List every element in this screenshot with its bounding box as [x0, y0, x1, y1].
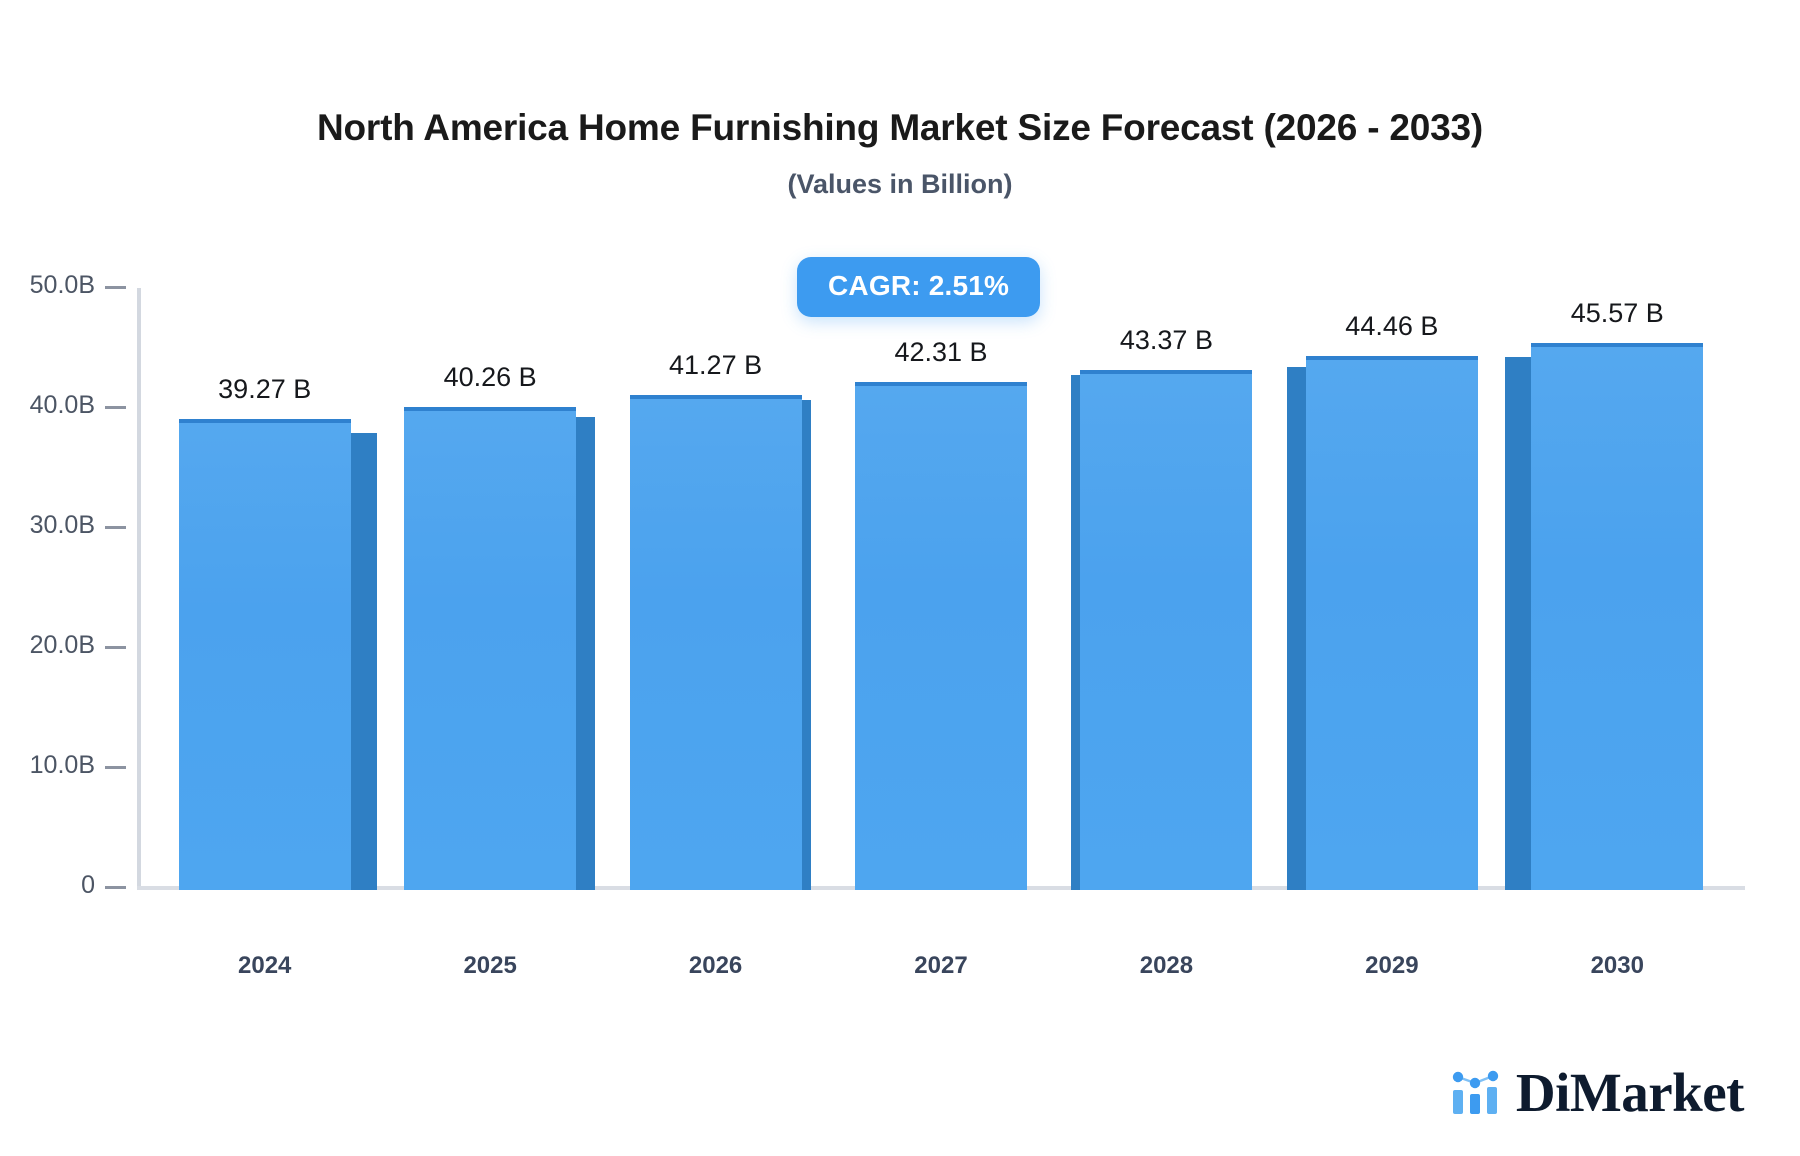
bar-side-face [351, 433, 377, 890]
y-axis-line [137, 288, 141, 890]
bar-group: 40.26 B2025 [404, 0, 576, 1156]
bar-value-label: 43.37 B [1120, 325, 1213, 356]
y-axis-tick-label: 40.0B [30, 391, 95, 420]
y-axis-tick-mark [105, 526, 126, 529]
bar-value-label: 41.27 B [669, 350, 762, 381]
x-axis-label: 2025 [463, 952, 516, 980]
bar-front-face [1531, 343, 1703, 890]
x-axis-label: 2030 [1591, 952, 1644, 980]
x-axis-label: 2027 [914, 952, 967, 980]
bar-column[interactable]: 44.46 B [1306, 356, 1478, 890]
y-axis-tick-label: 20.0B [30, 631, 95, 660]
bar-column[interactable]: 40.26 B [404, 407, 576, 890]
y-axis-tick-mark [105, 406, 126, 409]
cagr-badge: CAGR: 2.51% [797, 257, 1040, 317]
bar-front-face [855, 382, 1027, 890]
bar-group: 39.27 B2024 [179, 0, 351, 1156]
x-axis-label: 2024 [238, 952, 291, 980]
y-axis-tick-mark [105, 886, 126, 889]
bar-front-face [179, 419, 351, 890]
bar-side-face [576, 417, 595, 890]
bar-side-face [1287, 367, 1306, 890]
bar-column[interactable]: 43.37 B [1080, 370, 1252, 890]
bar-value-label: 40.26 B [444, 362, 537, 393]
x-axis-label: 2029 [1365, 952, 1418, 980]
bar-group: 43.37 B2028 [1080, 0, 1252, 1156]
bar-group: 44.46 B2029 [1306, 0, 1478, 1156]
bar-group: 41.27 B2026 [630, 0, 802, 1156]
bar-front-face [404, 407, 576, 890]
brand-logo: DiMarket [1450, 1065, 1744, 1120]
bar-column[interactable]: 41.27 B [630, 395, 802, 890]
y-axis-tick-label: 50.0B [30, 271, 95, 300]
bar-value-label: 42.31 B [894, 337, 987, 368]
bar-front-face [1306, 356, 1478, 890]
bar-value-label: 45.57 B [1571, 298, 1664, 329]
y-axis-tick-label: 10.0B [30, 751, 95, 780]
x-axis-label: 2028 [1140, 952, 1193, 980]
bar-value-label: 44.46 B [1345, 311, 1438, 342]
bar-front-face [630, 395, 802, 890]
bar-side-face [1071, 375, 1081, 890]
bar-chart-icon [1450, 1068, 1502, 1118]
x-axis-label: 2026 [689, 952, 742, 980]
y-axis-tick-mark [105, 646, 126, 649]
bar-side-face [802, 400, 812, 890]
bar-side-face [1505, 357, 1531, 890]
bar-column[interactable]: 39.27 B [179, 419, 351, 890]
bar-group: 45.57 B2030 [1531, 0, 1703, 1156]
bar-group: 42.31 B2027 [855, 0, 1027, 1156]
y-axis-tick-mark [105, 286, 126, 289]
y-axis-tick-label: 30.0B [30, 511, 95, 540]
logo-text: DiMarket [1516, 1065, 1744, 1120]
bar-value-label: 39.27 B [218, 374, 311, 405]
bar-front-face [1080, 370, 1252, 890]
y-axis-tick-label: 0 [81, 871, 95, 900]
bar-column[interactable]: 42.31 B [855, 382, 1027, 890]
bar-column[interactable]: 45.57 B [1531, 343, 1703, 890]
chart-page: North America Home Furnishing Market Siz… [0, 0, 1800, 1156]
plot-area: 50.0B40.0B30.0B20.0B10.0B0 39.27 B202440… [0, 0, 1800, 1156]
y-axis-tick-mark [105, 766, 126, 769]
